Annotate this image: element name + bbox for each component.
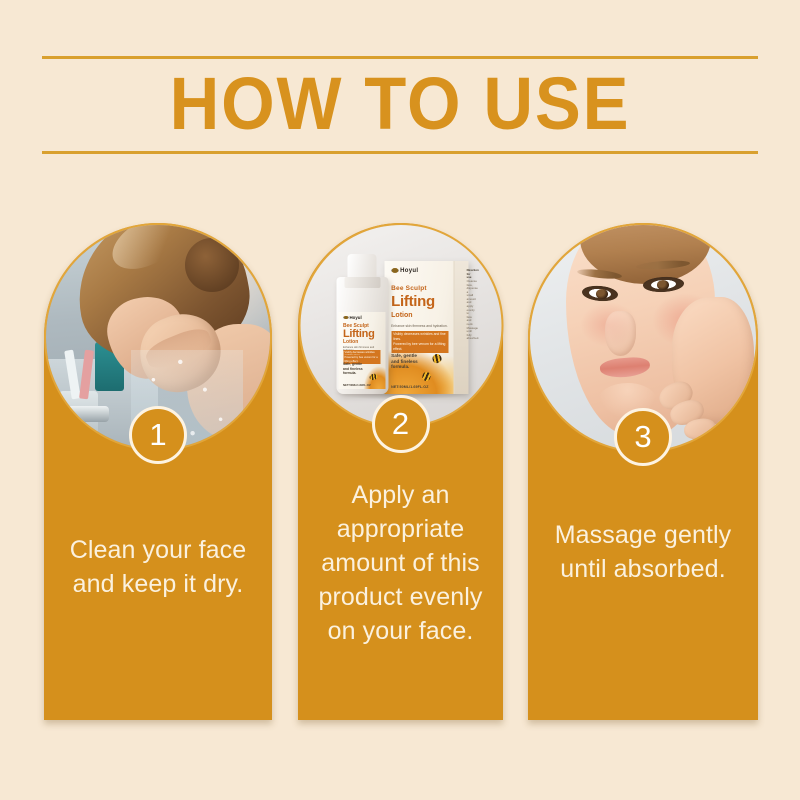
bee-logo-icon [391, 268, 398, 273]
header: HOW TO USE [42, 50, 758, 158]
faucet [50, 406, 108, 422]
brand-name: Hoyul [350, 315, 362, 320]
hair-sheen [104, 223, 194, 280]
steps-row: 1 Clean your face and keep it dry. Direc… [44, 223, 758, 723]
step-number-badge-3: 3 [614, 408, 672, 466]
step-card-1: 1 Clean your face and keep it dry. [44, 223, 272, 720]
carton-side-body: Cleanse face, dispense a small amount an… [467, 279, 479, 341]
page-title: HOW TO USE [67, 64, 733, 144]
nose [605, 311, 637, 356]
bottle-safe-text: Safe, gentle and fineless formula. [343, 362, 364, 375]
carton-side-heading: Direction for use [467, 268, 479, 279]
hair-bun [185, 238, 239, 292]
carton-side-text: Direction for use Cleanse face, dispense… [467, 269, 469, 341]
step-number-badge-1: 1 [129, 406, 187, 464]
pump-cap [348, 254, 377, 280]
brand-logo: Hoyul [343, 315, 362, 320]
product-carton: Direction for use Cleanse face, dispense… [384, 261, 468, 394]
carton-product-line2: Lifting [391, 294, 435, 309]
step-card-3: 3 Massage gently until absorbed. [528, 223, 758, 720]
carton-net-volume: NET:50ML/1.69FL.OZ [391, 385, 428, 389]
carton-product-line1: Bee Sculpt [391, 285, 427, 292]
step-caption-1: Clean your face and keep it dry. [52, 533, 264, 601]
brand-name: Hoyul [400, 268, 418, 274]
poster-canvas: HOW TO USE [0, 0, 800, 800]
pupil-left [596, 289, 608, 299]
header-rule-top [42, 56, 758, 59]
bee-logo-icon [343, 316, 348, 320]
pupil-right [657, 280, 669, 290]
carton-safe-text: Safe, gentle and fineless formula. [391, 353, 425, 370]
carton-side-panel: Direction for use Cleanse face, dispense… [453, 261, 468, 394]
step-caption-2: Apply an appropriate amount of this prod… [306, 478, 495, 648]
header-rule-bottom [42, 151, 758, 154]
step-number-badge-2: 2 [372, 395, 430, 453]
bottle-label: Hoyul Bee Sculpt Lifting Lotion Enhance … [339, 312, 386, 389]
bottle-neck [345, 277, 381, 287]
brand-logo: Hoyul [391, 268, 418, 274]
step-card-2: Direction for use Cleanse face, dispense… [298, 223, 503, 720]
product-bottle: Hoyul Bee Sculpt Lifting Lotion Enhance … [336, 277, 388, 394]
bottle-product-line3: Lotion [343, 339, 358, 345]
carton-product-line3: Lotion [391, 312, 412, 319]
bottle-net-volume: NET:50ML/1.69FL.OZ [343, 383, 371, 387]
carton-subtitle: Enhance skin firmness and hydration. [391, 324, 448, 328]
step-caption-3: Massage gently until absorbed. [536, 518, 750, 586]
carton-benefit-2: Powered by bee venom for a lifting effec… [391, 341, 448, 353]
